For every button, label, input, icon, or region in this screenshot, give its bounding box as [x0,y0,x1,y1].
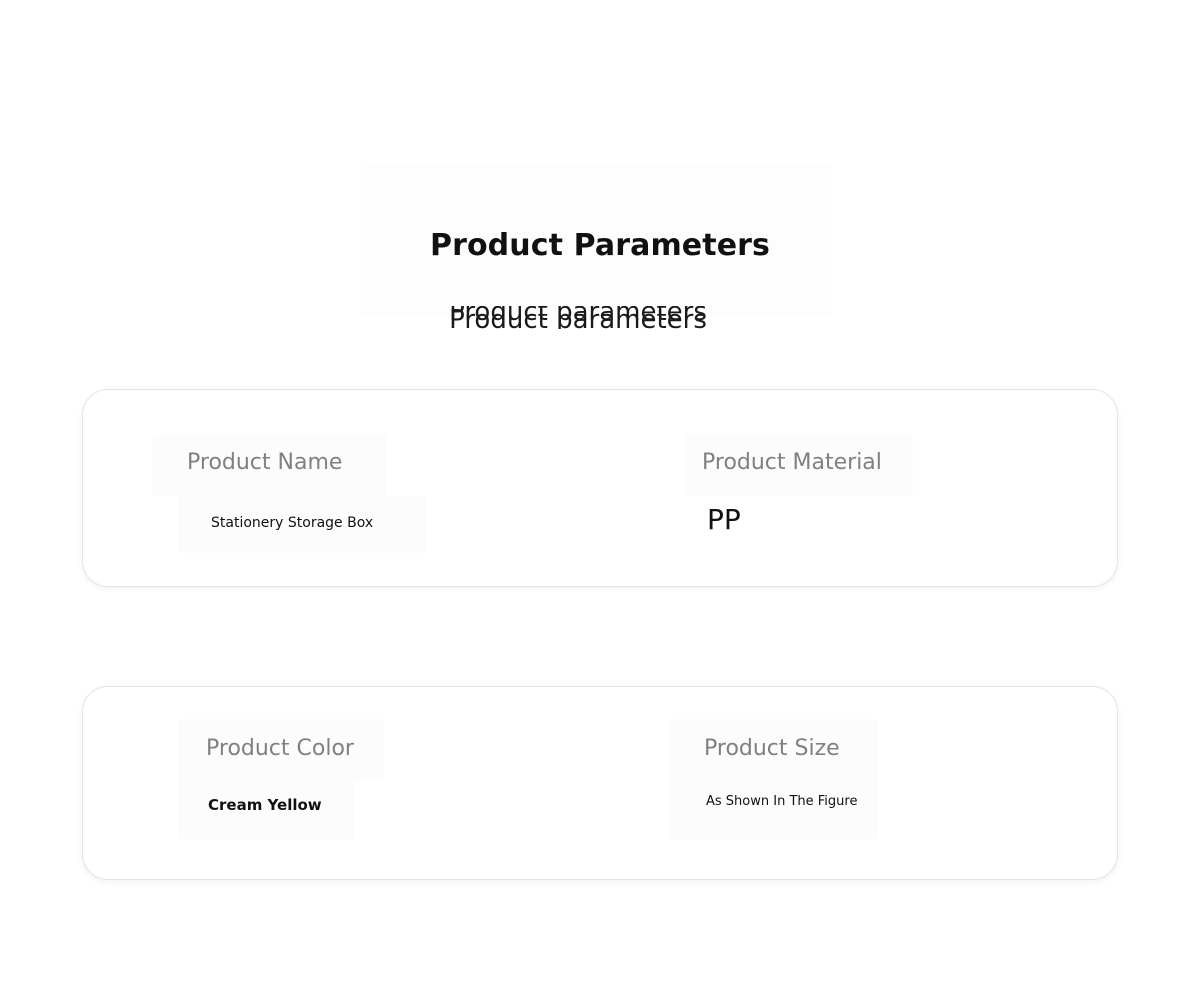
page-subtitle: Product parameters Product parameters [0,302,1200,336]
parameter-label-product-size: Product Size [704,734,840,764]
parameter-cell-product-material: Product Material PP [600,390,1117,586]
parameter-card-2: Product Color Cream Yellow Product Size … [82,686,1118,880]
parameter-cell-product-color: Product Color Cream Yellow [83,687,600,879]
parameter-cell-product-name: Product Name Stationery Storage Box [83,390,600,586]
parameter-value-product-size: As Shown In The Figure [706,790,857,814]
page-subtitle-layer-lower: Product parameters [0,303,1178,336]
page-title: Product Parameters [0,226,1200,266]
parameter-label-product-name: Product Name [187,448,342,478]
parameter-card-1: Product Name Stationery Storage Box Prod… [82,389,1118,587]
parameter-value-product-color: Cream Yellow [208,793,322,817]
parameter-value-product-name: Stationery Storage Box [211,511,373,535]
parameter-label-product-color: Product Color [206,734,354,764]
parameter-card-2-grid: Product Color Cream Yellow Product Size … [83,687,1117,879]
parameter-cell-product-size: Product Size As Shown In The Figure [600,687,1117,879]
parameter-card-1-grid: Product Name Stationery Storage Box Prod… [83,390,1117,586]
parameter-label-product-material: Product Material [702,448,882,478]
parameter-value-product-material: PP [707,503,741,537]
page-header: Product Parameters Product parameters Pr… [0,150,1200,350]
product-parameters-page: Product Parameters Product parameters Pr… [0,0,1200,998]
